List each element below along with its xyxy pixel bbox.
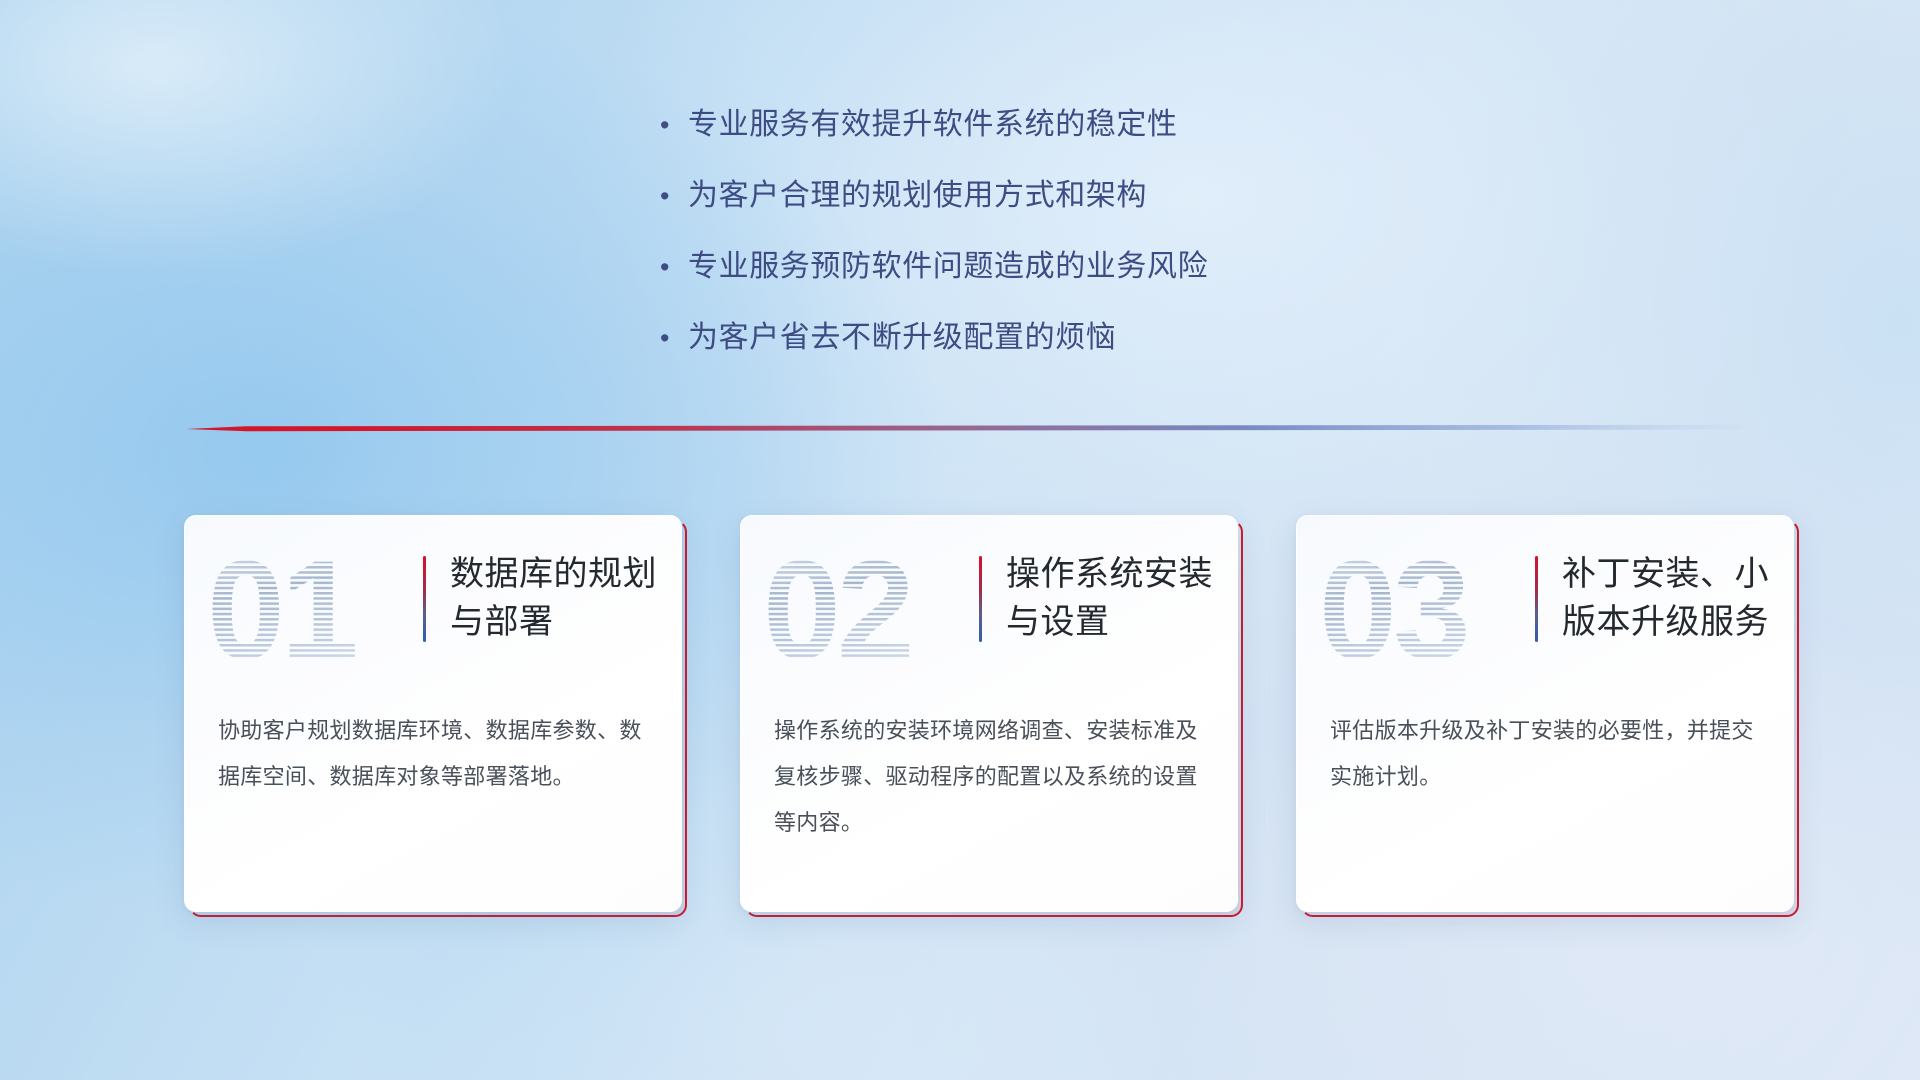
card-title: 补丁安装、小版本升级服务: [1562, 550, 1793, 646]
list-item: • 为客户省去不断升级配置的烦恼: [660, 317, 1208, 359]
card-title: 数据库的规划与部署: [450, 550, 681, 646]
service-card[interactable]: 02 操作系统安装与设置 操作系统的安装环境网络调查、安装标准及复核步骤、驱动程…: [740, 515, 1238, 912]
card-description: 操作系统的安装环境网络调查、安装标准及复核步骤、驱动程序的配置以及系统的设置等内…: [774, 708, 1209, 846]
bullet-text: 为客户省去不断升级配置的烦恼: [688, 317, 1116, 359]
service-card[interactable]: 01 数据库的规划与部署 协助客户规划数据库环境、数据库参数、数据库空间、数据库…: [184, 515, 682, 912]
svg-text:01: 01: [207, 540, 355, 680]
bullet-text: 专业服务预防软件问题造成的业务风险: [688, 246, 1208, 288]
bullet-marker-icon: •: [660, 104, 688, 146]
title-accent-bar-icon: [979, 556, 982, 642]
card-surface: 02 操作系统安装与设置 操作系统的安装环境网络调查、安装标准及复核步骤、驱动程…: [740, 515, 1238, 912]
card-description: 评估版本升级及补丁安装的必要性，并提交实施计划。: [1330, 708, 1765, 800]
card-description: 协助客户规划数据库环境、数据库参数、数据库空间、数据库对象等部署落地。: [218, 708, 653, 800]
section-divider: [186, 420, 1742, 438]
card-header: 操作系统安装与设置: [979, 550, 1237, 646]
bullet-text: 专业服务有效提升软件系统的稳定性: [688, 104, 1178, 146]
list-item: • 为客户合理的规划使用方式和架构: [660, 175, 1208, 217]
card-surface: 03 补丁安装、小版本升级服务 评估版本升级及补丁安装的必要性，并提交实施计划。: [1296, 515, 1794, 912]
list-item: • 专业服务有效提升软件系统的稳定性: [660, 104, 1208, 146]
bullet-text: 为客户合理的规划使用方式和架构: [688, 175, 1147, 217]
card-header: 数据库的规划与部署: [423, 550, 681, 646]
card-number-watermark: 02: [763, 540, 963, 680]
service-card-list: 01 数据库的规划与部署 协助客户规划数据库环境、数据库参数、数据库空间、数据库…: [184, 515, 1794, 912]
card-header: 补丁安装、小版本升级服务: [1535, 550, 1793, 646]
bullet-marker-icon: •: [660, 246, 688, 288]
card-number-watermark: 01: [207, 540, 407, 680]
svg-text:02: 02: [763, 540, 911, 680]
list-item: • 专业服务预防软件问题造成的业务风险: [660, 246, 1208, 288]
bullet-marker-icon: •: [660, 317, 688, 359]
card-number-watermark: 03: [1319, 540, 1519, 680]
benefits-bullet-list: • 专业服务有效提升软件系统的稳定性 • 为客户合理的规划使用方式和架构 • 专…: [660, 104, 1208, 388]
bullet-marker-icon: •: [660, 175, 688, 217]
service-card[interactable]: 03 补丁安装、小版本升级服务 评估版本升级及补丁安装的必要性，并提交实施计划。: [1296, 515, 1794, 912]
card-surface: 01 数据库的规划与部署 协助客户规划数据库环境、数据库参数、数据库空间、数据库…: [184, 515, 682, 912]
title-accent-bar-icon: [1535, 556, 1538, 642]
divider-graphic: [186, 420, 1742, 438]
svg-text:03: 03: [1319, 540, 1467, 680]
card-title: 操作系统安装与设置: [1006, 550, 1237, 646]
title-accent-bar-icon: [423, 556, 426, 642]
slide-canvas: • 专业服务有效提升软件系统的稳定性 • 为客户合理的规划使用方式和架构 • 专…: [0, 0, 1920, 1080]
